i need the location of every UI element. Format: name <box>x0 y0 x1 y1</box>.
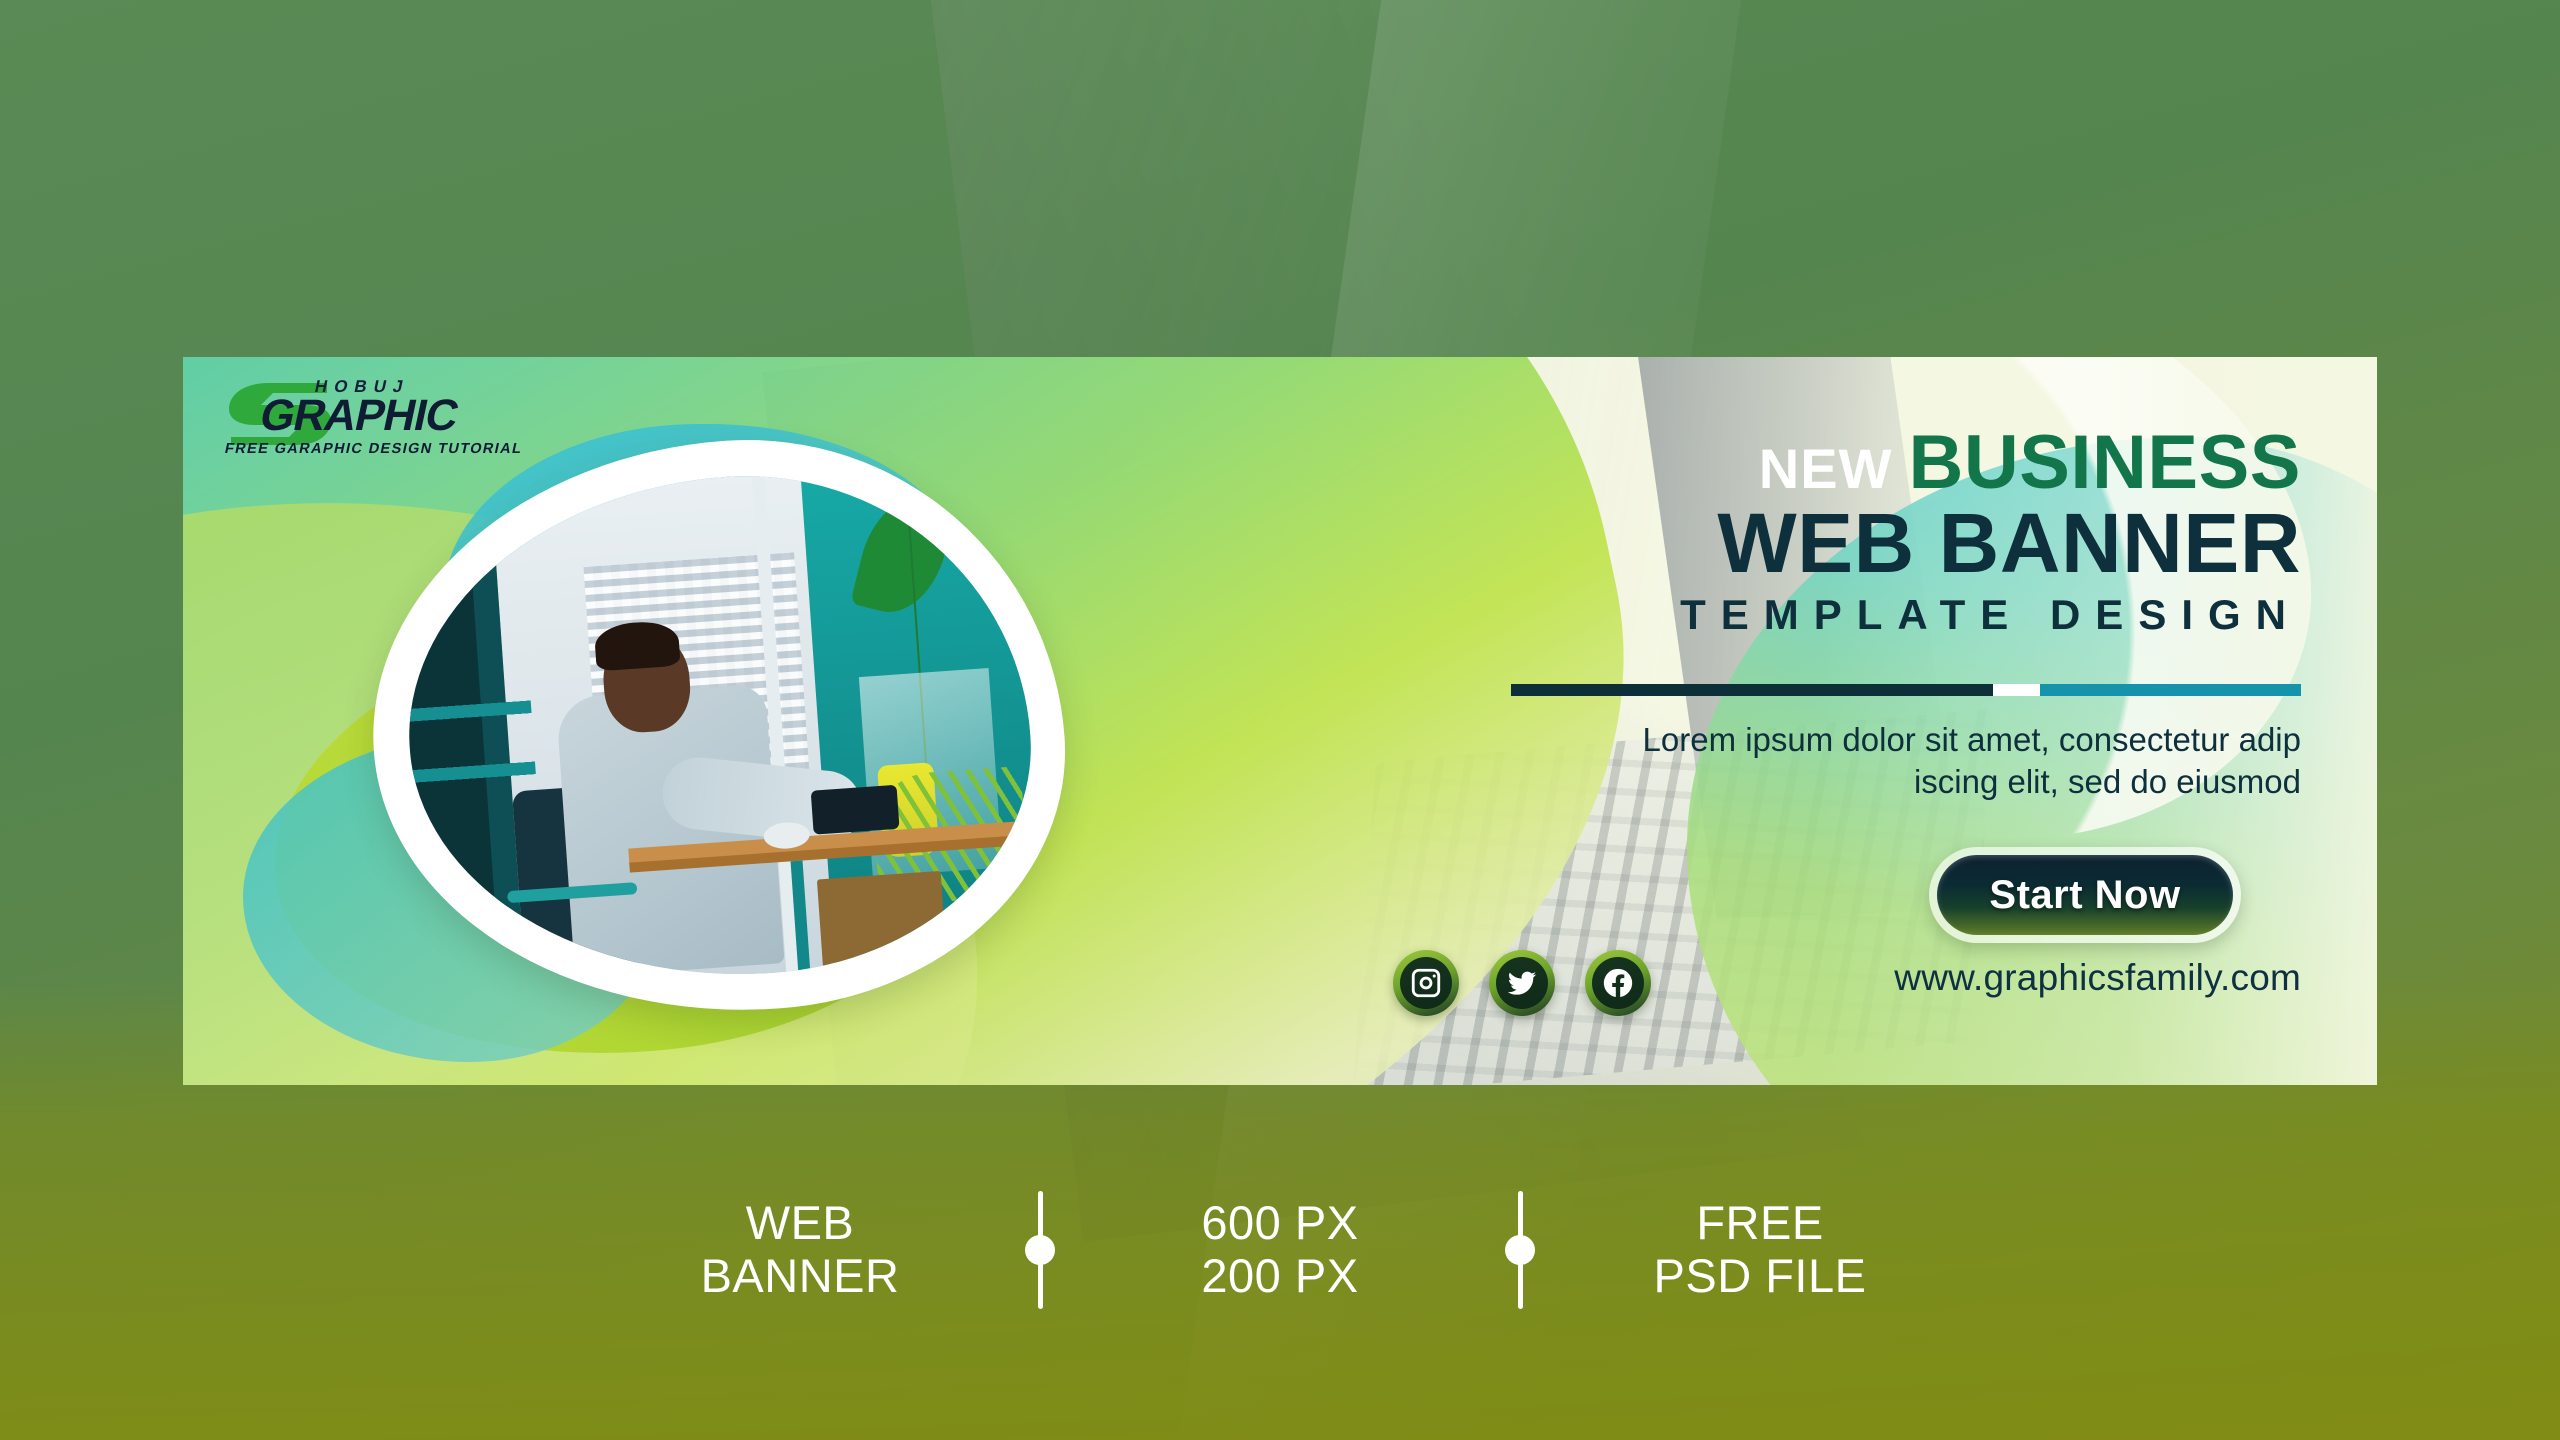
website-url[interactable]: www.graphicsfamily.com <box>1894 957 2301 999</box>
logo-graphic-text: GRAPHIC <box>256 391 463 441</box>
logo-tagline: FREE GARAPHIC DESIGN TUTORIAL <box>223 441 524 457</box>
info-size-height: 200 PX <box>1115 1250 1445 1303</box>
info-type-line-1: WEB <box>635 1197 965 1250</box>
separator-node-1 <box>1025 1235 1055 1265</box>
headline-eyebrow: NEW <box>1759 437 1893 500</box>
info-license-line-2: PSD FILE <box>1595 1250 1925 1303</box>
social-links <box>1393 950 1651 1016</box>
start-now-button[interactable]: Start Now <box>1929 847 2241 943</box>
photo-blob <box>353 432 1123 1032</box>
headline-divider <box>1511 684 2301 696</box>
brand-logo[interactable]: HOBUJ GRAPHIC FREE GARAPHIC DESIGN TUTOR… <box>223 371 523 467</box>
info-cell-license: FREE PSD FILE <box>1595 1197 1925 1302</box>
facebook-core <box>1592 957 1644 1009</box>
facebook-link[interactable] <box>1585 950 1651 1016</box>
lead-line-1: Lorem ipsum dolor sit amet, consectetur … <box>1643 719 2301 761</box>
photo-drawer-unit <box>817 871 947 969</box>
lead-line-2: iscing elit, sed do eiusmod <box>1643 761 2301 803</box>
headline-highlight: BUSINESS <box>1908 420 2301 505</box>
info-type-line-2: BANNER <box>635 1250 965 1303</box>
info-license-line-1: FREE <box>1595 1197 1925 1250</box>
info-separator-2 <box>1445 1191 1595 1309</box>
headline-block: NEWBUSINESS WEB BANNER TEMPLATE DESIGN <box>1665 425 2301 639</box>
instagram-core <box>1400 957 1452 1009</box>
office-photo <box>392 457 1045 997</box>
info-cell-size: 600 PX 200 PX <box>1115 1197 1445 1302</box>
divider-segment-teal <box>2040 684 2301 696</box>
start-now-inner: Start Now <box>1937 855 2233 935</box>
headline-line-3: TEMPLATE DESIGN <box>1665 591 2301 639</box>
web-banner: HOBUJ GRAPHIC FREE GARAPHIC DESIGN TUTOR… <box>183 357 2377 1085</box>
info-separator-1 <box>965 1191 1115 1309</box>
facebook-icon <box>1601 966 1635 1000</box>
info-cell-type: WEB BANNER <box>635 1197 965 1302</box>
instagram-icon <box>1409 966 1443 1000</box>
twitter-icon <box>1505 966 1539 1000</box>
twitter-core <box>1496 957 1548 1009</box>
divider-segment-navy <box>1511 684 1993 696</box>
lead-paragraph: Lorem ipsum dolor sit amet, consectetur … <box>1643 719 2301 802</box>
photo-desk-phone <box>810 784 899 834</box>
info-bar: WEB BANNER 600 PX 200 PX FREE PSD FILE <box>0 1155 2560 1345</box>
separator-node-2 <box>1505 1235 1535 1265</box>
twitter-link[interactable] <box>1489 950 1555 1016</box>
divider-segment-white <box>1993 684 2040 696</box>
start-now-label: Start Now <box>1989 873 2180 918</box>
headline-row-1: NEWBUSINESS <box>1665 425 2301 501</box>
headline-line-2: WEB BANNER <box>1665 501 2301 587</box>
instagram-link[interactable] <box>1393 950 1459 1016</box>
info-size-width: 600 PX <box>1115 1197 1445 1250</box>
